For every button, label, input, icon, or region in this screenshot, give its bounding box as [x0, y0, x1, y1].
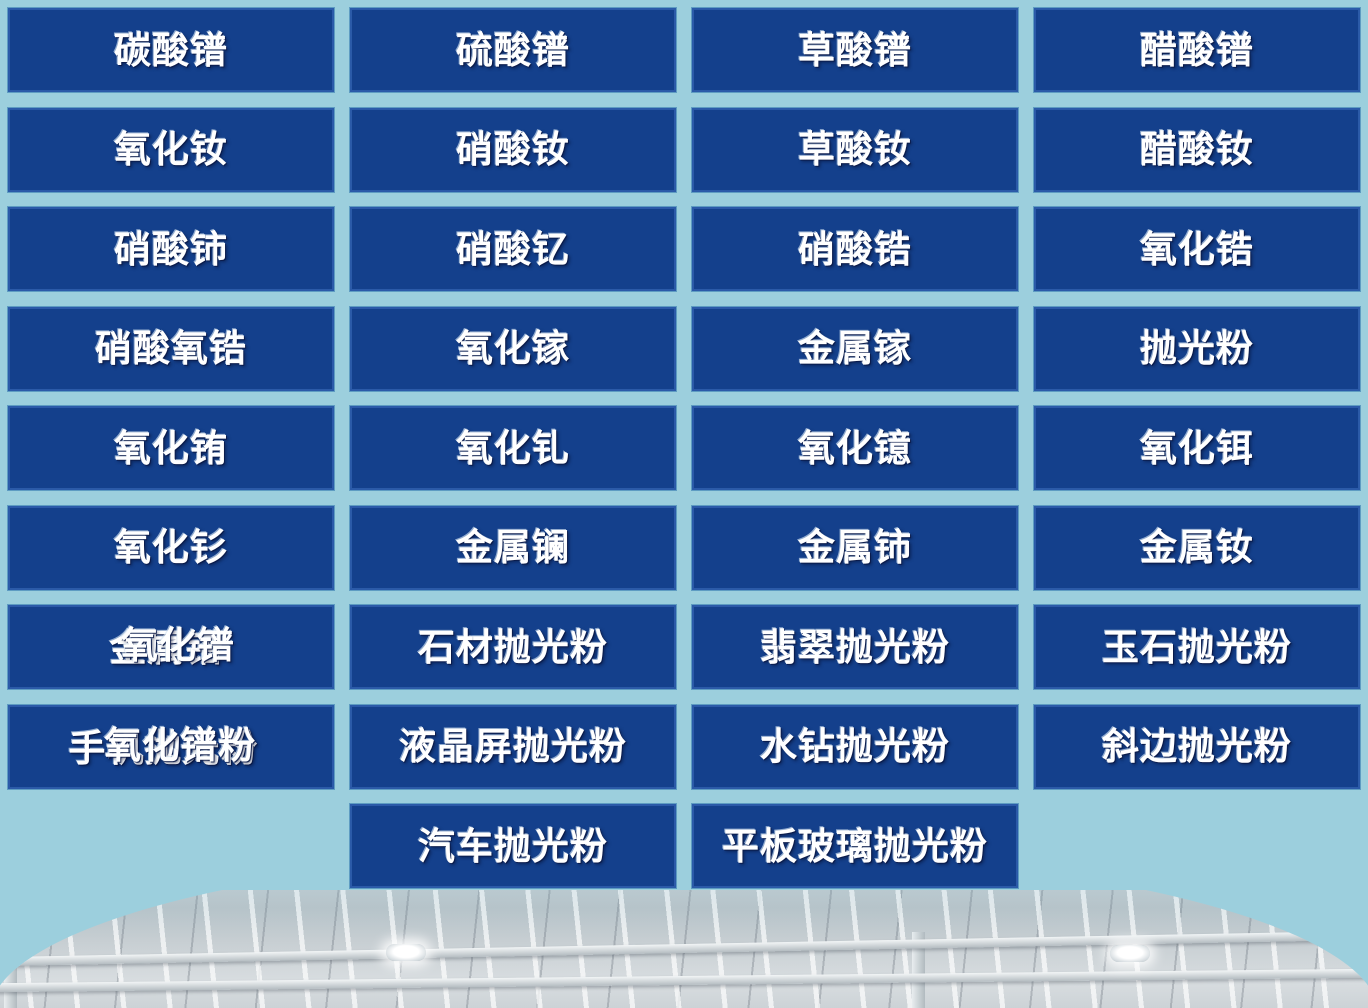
product-chip[interactable]: 金属镧: [350, 506, 676, 590]
product-cell: 水钻抛光粉: [684, 705, 1026, 789]
product-chip-label: 醋酸镨: [1140, 32, 1254, 69]
product-cell: 氧化镓: [342, 307, 684, 391]
product-chip-label: 碳酸镨: [114, 32, 228, 69]
product-cell: 氧化钆: [342, 406, 684, 490]
product-chip[interactable]: 醋酸钕: [1034, 108, 1360, 192]
product-cell: 金属镧: [342, 506, 684, 590]
product-chip-label: 氧化锆: [1140, 231, 1254, 268]
product-cell: 汽车抛光粉: [342, 804, 684, 888]
product-row: 手机抛光粉氧化镨粉液晶屏抛光粉水钻抛光粉斜边抛光粉: [0, 705, 1368, 789]
product-chip[interactable]: 氧化铕: [8, 406, 334, 490]
product-chip-label: 硝酸钇: [456, 231, 570, 268]
product-chip-label: 液晶屏抛光粉: [399, 728, 627, 765]
product-cell: 硝酸锆: [684, 207, 1026, 291]
product-row: 氧化钐金属镧金属铈金属钕: [0, 506, 1368, 590]
product-chip[interactable]: 金属铈: [692, 506, 1018, 590]
factory-photo-band: [0, 890, 1368, 1008]
product-cell: 氧化钐: [0, 506, 342, 590]
product-chip[interactable]: 抛光粉: [1034, 307, 1360, 391]
product-chip-label: 草酸钕: [798, 131, 912, 168]
product-chip[interactable]: 玉石抛光粉: [1034, 605, 1360, 689]
product-cell: 抛光粉: [1026, 307, 1368, 391]
product-cell: 平板玻璃抛光粉: [684, 804, 1026, 888]
product-row: 硝酸铈硝酸钇硝酸锆氧化锆: [0, 207, 1368, 291]
product-cell: 金属铈: [684, 506, 1026, 590]
product-chip[interactable]: 硝酸锆: [692, 207, 1018, 291]
product-cell: 硝酸钕: [342, 108, 684, 192]
product-chip[interactable]: 硝酸钕: [350, 108, 676, 192]
product-chip[interactable]: 金属镓: [692, 307, 1018, 391]
product-chip[interactable]: 醋酸镨: [1034, 8, 1360, 92]
product-chip-label: 氧化钐: [114, 529, 228, 566]
product-chip[interactable]: 氧化钐: [8, 506, 334, 590]
product-chip[interactable]: 氧化锆: [1034, 207, 1360, 291]
product-chip-label: 氧化铒: [1140, 430, 1254, 467]
product-row: 汽车抛光粉平板玻璃抛光粉: [0, 804, 1368, 888]
product-chip-label: 石材抛光粉: [418, 629, 608, 666]
product-chip-label: 硫酸镨: [456, 32, 570, 69]
product-chip-label: 醋酸钕: [1140, 131, 1254, 168]
product-row: 硝酸氧锆氧化镓金属镓抛光粉: [0, 307, 1368, 391]
product-chip-label: 硝酸钕: [456, 131, 570, 168]
product-cell: 金属镓: [684, 307, 1026, 391]
product-chip[interactable]: 碳酸镨: [8, 8, 334, 92]
product-chip-label: 翡翠抛光粉: [760, 629, 950, 666]
product-cell: 醋酸钕: [1026, 108, 1368, 192]
product-cell: 硫酸镨: [342, 8, 684, 92]
product-chip-label-overlay: 氧化镨: [121, 627, 235, 664]
product-cell: 翡翠抛光粉: [684, 605, 1026, 689]
product-chip-label: 斜边抛光粉: [1102, 728, 1292, 765]
product-cell: 醋酸镨: [1026, 8, 1368, 92]
product-cell: 硝酸铈: [0, 207, 342, 291]
product-chip-label: 氧化钆: [456, 430, 570, 467]
product-chip[interactable]: 金属镨氧化镨: [8, 605, 334, 689]
factory-interior-photo: [0, 890, 1368, 1008]
product-cell: 氧化铒: [1026, 406, 1368, 490]
product-chip[interactable]: 硫酸镨: [350, 8, 676, 92]
product-chip[interactable]: 氧化镓: [350, 307, 676, 391]
factory-photo-fade: [0, 890, 1368, 1008]
product-cell: 液晶屏抛光粉: [342, 705, 684, 789]
product-chip-label: 草酸镨: [798, 32, 912, 69]
product-chip-label: 氧化铕: [114, 430, 228, 467]
product-chip[interactable]: 液晶屏抛光粉: [350, 705, 676, 789]
product-cell: 斜边抛光粉: [1026, 705, 1368, 789]
product-chip[interactable]: 平板玻璃抛光粉: [692, 804, 1018, 888]
product-chip-label: 氧化钕: [114, 131, 228, 168]
product-chip-label: 氧化镓: [456, 330, 570, 367]
product-row: 氧化钕硝酸钕草酸钕醋酸钕: [0, 108, 1368, 192]
product-chip-label: 抛光粉: [1140, 330, 1254, 367]
product-chip[interactable]: 翡翠抛光粉: [692, 605, 1018, 689]
product-chip-label: 硝酸铈: [114, 231, 228, 268]
product-chip-label: 硝酸氧锆: [95, 330, 247, 367]
product-chip-label: 玉石抛光粉: [1102, 629, 1292, 666]
product-chip[interactable]: 斜边抛光粉: [1034, 705, 1360, 789]
product-row: 氧化铕氧化钆氧化镱氧化铒: [0, 406, 1368, 490]
product-chip-label: 金属镧: [456, 529, 570, 566]
product-chip[interactable]: 氧化钕: [8, 108, 334, 192]
product-chip[interactable]: 草酸镨: [692, 8, 1018, 92]
product-cell: 玉石抛光粉: [1026, 605, 1368, 689]
product-chip-label: 金属钕: [1140, 529, 1254, 566]
product-chip[interactable]: 草酸钕: [692, 108, 1018, 192]
product-chip-label: 汽车抛光粉: [418, 828, 608, 865]
product-chip[interactable]: 硝酸铈: [8, 207, 334, 291]
product-chip[interactable]: 水钻抛光粉: [692, 705, 1018, 789]
product-chip[interactable]: 手机抛光粉氧化镨粉: [8, 705, 334, 789]
product-cell: 碳酸镨: [0, 8, 342, 92]
product-chip-label: 金属镓: [798, 330, 912, 367]
product-cell: 硝酸钇: [342, 207, 684, 291]
product-chip-label: 水钻抛光粉: [760, 728, 950, 765]
product-cell: 草酸镨: [684, 8, 1026, 92]
product-cell: 氧化镱: [684, 406, 1026, 490]
product-cell: 金属钕: [1026, 506, 1368, 590]
product-chip[interactable]: 硝酸钇: [350, 207, 676, 291]
product-cell: 草酸钕: [684, 108, 1026, 192]
product-chip-label: 金属铈: [798, 529, 912, 566]
product-cell: 氧化钕: [0, 108, 342, 192]
product-grid: 碳酸镨硫酸镨草酸镨醋酸镨氧化钕硝酸钕草酸钕醋酸钕硝酸铈硝酸钇硝酸锆氧化锆硝酸氧锆…: [0, 0, 1368, 895]
product-chip[interactable]: 氧化镱: [692, 406, 1018, 490]
product-row: 碳酸镨硫酸镨草酸镨醋酸镨: [0, 8, 1368, 92]
product-chip-label: 平板玻璃抛光粉: [722, 828, 988, 865]
product-cell: 氧化锆: [1026, 207, 1368, 291]
product-chip-label: 硝酸锆: [798, 231, 912, 268]
product-chip[interactable]: 汽车抛光粉: [350, 804, 676, 888]
product-cell: 硝酸氧锆: [0, 307, 342, 391]
product-cell: 金属镨氧化镨: [0, 605, 342, 689]
product-chip[interactable]: 金属钕: [1034, 506, 1360, 590]
product-chip[interactable]: 硝酸氧锆: [8, 307, 334, 391]
product-chip[interactable]: 氧化铒: [1034, 406, 1360, 490]
product-chip[interactable]: 石材抛光粉: [350, 605, 676, 689]
product-cell: 手机抛光粉氧化镨粉: [0, 705, 342, 789]
product-row: 金属镨氧化镨石材抛光粉翡翠抛光粉玉石抛光粉: [0, 605, 1368, 689]
product-chip-label-overlay: 氧化镨粉: [104, 727, 256, 764]
product-cell: 石材抛光粉: [342, 605, 684, 689]
product-chip[interactable]: 氧化钆: [350, 406, 676, 490]
product-cell: 氧化铕: [0, 406, 342, 490]
product-chip-label: 氧化镱: [798, 430, 912, 467]
